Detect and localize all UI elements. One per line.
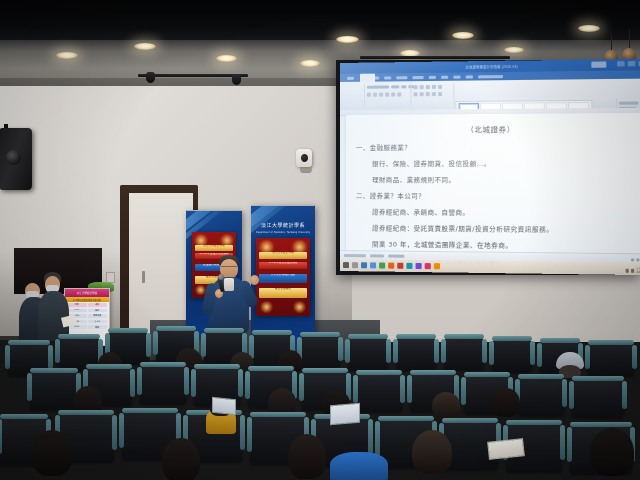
ceiling-downlight: [452, 32, 474, 39]
system-tray[interactable]: 下午 02:13 2025/3/20: [625, 267, 640, 274]
auditorium-seat[interactable]: [140, 364, 186, 404]
lecture-hall-scene: 北城證券職涯分享簡報 (2025.03): [0, 0, 640, 480]
seat-headrest: [302, 368, 348, 373]
attendee-torso: [330, 452, 388, 480]
lighting-track: [360, 56, 510, 59]
side-door-panel[interactable]: [129, 193, 193, 340]
seat-headrest: [122, 408, 178, 413]
poster-line-text: 職涯發展講座: [259, 288, 307, 291]
seat-headrest: [518, 374, 564, 379]
word-document-title: 北城證券職涯分享簡報 (2025.03): [465, 64, 517, 70]
wall-loudspeaker: [0, 128, 32, 190]
auditorium-seat[interactable]: [444, 336, 484, 370]
tab-view[interactable]: [453, 75, 460, 78]
tab-layout[interactable]: [396, 76, 407, 79]
seat-headrest: [250, 412, 306, 417]
document-title-line: （北城證券）: [346, 124, 640, 136]
tab-references[interactable]: [412, 76, 423, 79]
seat-headrest: [378, 416, 434, 421]
ceiling-downlight: [300, 60, 320, 67]
start-button-icon[interactable]: [343, 262, 349, 268]
seat-headrest: [204, 328, 244, 333]
camera-lens-icon: [301, 154, 308, 162]
banner-top-rail: [251, 205, 315, 206]
seat-headrest: [58, 410, 114, 415]
speaker-right-hand: [250, 275, 259, 285]
speaker-shirt: [224, 278, 234, 291]
seat-headrest: [492, 336, 532, 341]
taskbar-search-icon[interactable]: [352, 262, 358, 268]
poster-line-text: 淡江大學統計學系: [259, 252, 307, 255]
taskbar-clock[interactable]: 下午 02:13 2025/3/20: [636, 267, 640, 274]
tray-volume-icon[interactable]: [631, 268, 634, 272]
poster-line: 淡江大學統計學系: [195, 245, 234, 251]
schedule-cell: 報到: [88, 309, 108, 313]
speaker-glasses-icon: [221, 266, 237, 270]
seat-headrest: [356, 370, 402, 375]
taskbar-app-icon[interactable]: [416, 263, 422, 269]
microphone-head-icon: [218, 274, 224, 280]
auditorium-seat[interactable]: [518, 376, 564, 416]
seat-headrest: [86, 364, 132, 369]
tab-file[interactable]: [347, 76, 354, 79]
ceiling-downlight: [578, 25, 600, 32]
word-document-page[interactable]: （北城證券） 一、金融服務業？ 銀行、保險、證券期貨、投信投顧…。 理財商品、業…: [346, 113, 640, 254]
tell-me-search-icon[interactable]: [478, 75, 503, 78]
zoom-controls[interactable]: [631, 258, 640, 261]
poster-line: 大學生涯與職涯規劃: [259, 274, 307, 283]
seat-headrest: [252, 330, 292, 335]
auditorium-seat[interactable]: [300, 334, 340, 368]
minimize-icon[interactable]: [617, 61, 625, 66]
seated-attendee: [30, 430, 76, 480]
seat-headrest: [8, 340, 50, 345]
seat-headrest: [300, 332, 340, 337]
attendee-hair: [412, 430, 452, 474]
attendee-hair: [162, 438, 200, 480]
tab-mailings[interactable]: [429, 75, 436, 78]
document-line: 證券經紀商、承銷商、自營商。: [372, 207, 640, 218]
camera-mount-arm: [300, 166, 312, 173]
seat-headrest: [540, 338, 580, 343]
seat-headrest: [506, 420, 562, 425]
poster-line-text: 113學年度校友職涯講座: [259, 262, 307, 265]
seat-headrest: [444, 334, 484, 339]
attendee-hair: [32, 430, 72, 476]
seat-headrest: [30, 368, 78, 373]
seat-headrest: [572, 376, 624, 381]
seat-headrest: [140, 362, 186, 367]
seat-headrest: [248, 366, 294, 371]
ribbon-group-clipboard[interactable]: [342, 84, 365, 107]
seated-attendee: [160, 438, 204, 480]
poster-line: 職涯發展講座: [259, 288, 307, 298]
seat-headrest: [464, 372, 510, 377]
seat-headrest: [194, 364, 240, 369]
restore-icon[interactable]: [628, 61, 636, 66]
banner-department-heading: 淡江大學統計學系 Department of Statistics, Tamka…: [254, 222, 313, 234]
pendant-wire: [629, 30, 630, 50]
seat-headrest: [108, 328, 148, 333]
seat-headrest: [442, 418, 498, 423]
seat-headrest: [588, 340, 634, 345]
laptop-screen: [330, 403, 360, 426]
zoom-slider[interactable]: [636, 258, 639, 261]
projection-screen: 北城證券職涯分享簡報 (2025.03): [340, 59, 640, 275]
auditorium-seat[interactable]: [356, 372, 402, 412]
tray-network-icon[interactable]: [625, 268, 628, 272]
track-spotlight: [232, 74, 241, 85]
poster-line: 113學年度校友職涯講座: [259, 262, 307, 269]
document-line: 開業 30 年，北城營造團隊企業、在地券商。: [372, 239, 640, 251]
clock-date: 2025/3/20: [636, 271, 640, 275]
schedule-cell: 專題演講: [88, 314, 108, 318]
attendee-hair: [590, 428, 634, 476]
document-line: 證券經紀商：受託買賣股票/期貨/投資分析研究資訊服務。: [372, 223, 640, 234]
tab-design[interactable]: [384, 76, 391, 79]
status-word-count: [370, 254, 384, 257]
document-line: 二、證券業？本公司？: [356, 191, 640, 201]
door-handle[interactable]: [142, 271, 145, 283]
word-share-button[interactable]: [591, 61, 606, 67]
window-controls[interactable]: [617, 61, 640, 67]
document-line: 銀行、保險、證券期貨、投信投顧…。: [372, 159, 640, 168]
ceiling-downlight: [56, 52, 78, 59]
speaker-cone: [6, 150, 21, 165]
taskbar-app-icon[interactable]: [397, 263, 403, 269]
status-language: [388, 254, 404, 257]
schedule-cell: 議程: [88, 303, 108, 307]
banner-top-rail: [186, 210, 242, 211]
poster-ornament: [293, 301, 306, 313]
taskbar-app-icon[interactable]: [425, 263, 431, 269]
taskbar-app-icon[interactable]: [379, 262, 385, 268]
word-ribbon[interactable]: AaBbCcDd 內文 AaBbCcDd 無間距 AaB 標題 1 AaB 標題…: [340, 79, 640, 111]
tab-review[interactable]: [441, 75, 448, 78]
banner-heading-cn: 淡江大學統計學系: [254, 222, 313, 229]
taskbar-app-icon[interactable]: [370, 262, 376, 268]
schedule-cell: 賦歸: [88, 325, 108, 329]
seated-attendee: [490, 388, 524, 422]
seated-attendee-blue-shirt: [330, 452, 388, 480]
ribbon-group-paragraph[interactable]: [412, 83, 454, 107]
banner-heading-en: Department of Statistics, Tamkang Univer…: [254, 231, 313, 234]
poster-line: 淡江大學統計學系: [259, 252, 307, 259]
attendee-hair: [432, 392, 460, 418]
seat-headrest: [410, 370, 456, 375]
ceiling-downlight: [134, 43, 156, 50]
seated-attendee: [410, 430, 456, 480]
tab-help[interactable]: [466, 75, 473, 78]
auditorium-seat[interactable]: [396, 336, 436, 370]
seated-attendee: [590, 428, 638, 480]
auditorium-seat[interactable]: [572, 378, 624, 418]
seat-headrest: [156, 326, 196, 331]
tab-home-active[interactable]: [360, 74, 375, 82]
laptop-screen: [212, 397, 236, 416]
handout-paper: [487, 438, 525, 460]
ribbon-group-font[interactable]: [366, 83, 411, 107]
taskbar-app-icon[interactable]: [434, 263, 440, 269]
attendee-hair: [288, 434, 326, 479]
auditorium-seat[interactable]: [348, 336, 388, 370]
seat-headrest: [396, 334, 436, 339]
seat-headrest: [0, 414, 48, 419]
schedule-cell: Q & A: [88, 320, 108, 324]
ceiling-downlight: [504, 47, 524, 53]
taskbar-app-icon[interactable]: [388, 263, 394, 269]
document-line: 一、金融服務業？: [356, 142, 640, 152]
seated-attendee: [286, 434, 330, 480]
attendee-hair: [492, 388, 520, 417]
taskbar-app-icon[interactable]: [406, 263, 412, 269]
poster-line-text: 淡江大學統計學系: [195, 245, 234, 248]
taskbar-app-icon[interactable]: [361, 262, 367, 268]
auditorium-seat[interactable]: [492, 338, 532, 372]
status-page-info: [344, 254, 366, 257]
seat-headrest: [570, 422, 632, 427]
event-poster: 淡江大學統計學系 113學年度校友職涯講座 大學生涯與職涯規劃 職涯發展講座: [256, 238, 310, 316]
track-spotlight: [146, 72, 155, 83]
zoom-out-icon[interactable]: [631, 258, 634, 261]
ceiling-downlight: [336, 36, 359, 43]
find-button[interactable]: [619, 102, 638, 105]
auditorium-seat[interactable]: [588, 342, 634, 376]
poster-line-text: 大學生涯與職涯規劃: [259, 274, 307, 277]
auditorium-seat[interactable]: [30, 370, 78, 410]
seat-headrest: [58, 334, 100, 339]
seat-headrest: [348, 334, 388, 339]
document-line: 理財商品、業務規則不同。: [372, 175, 640, 185]
ceiling-downlight: [216, 55, 237, 62]
